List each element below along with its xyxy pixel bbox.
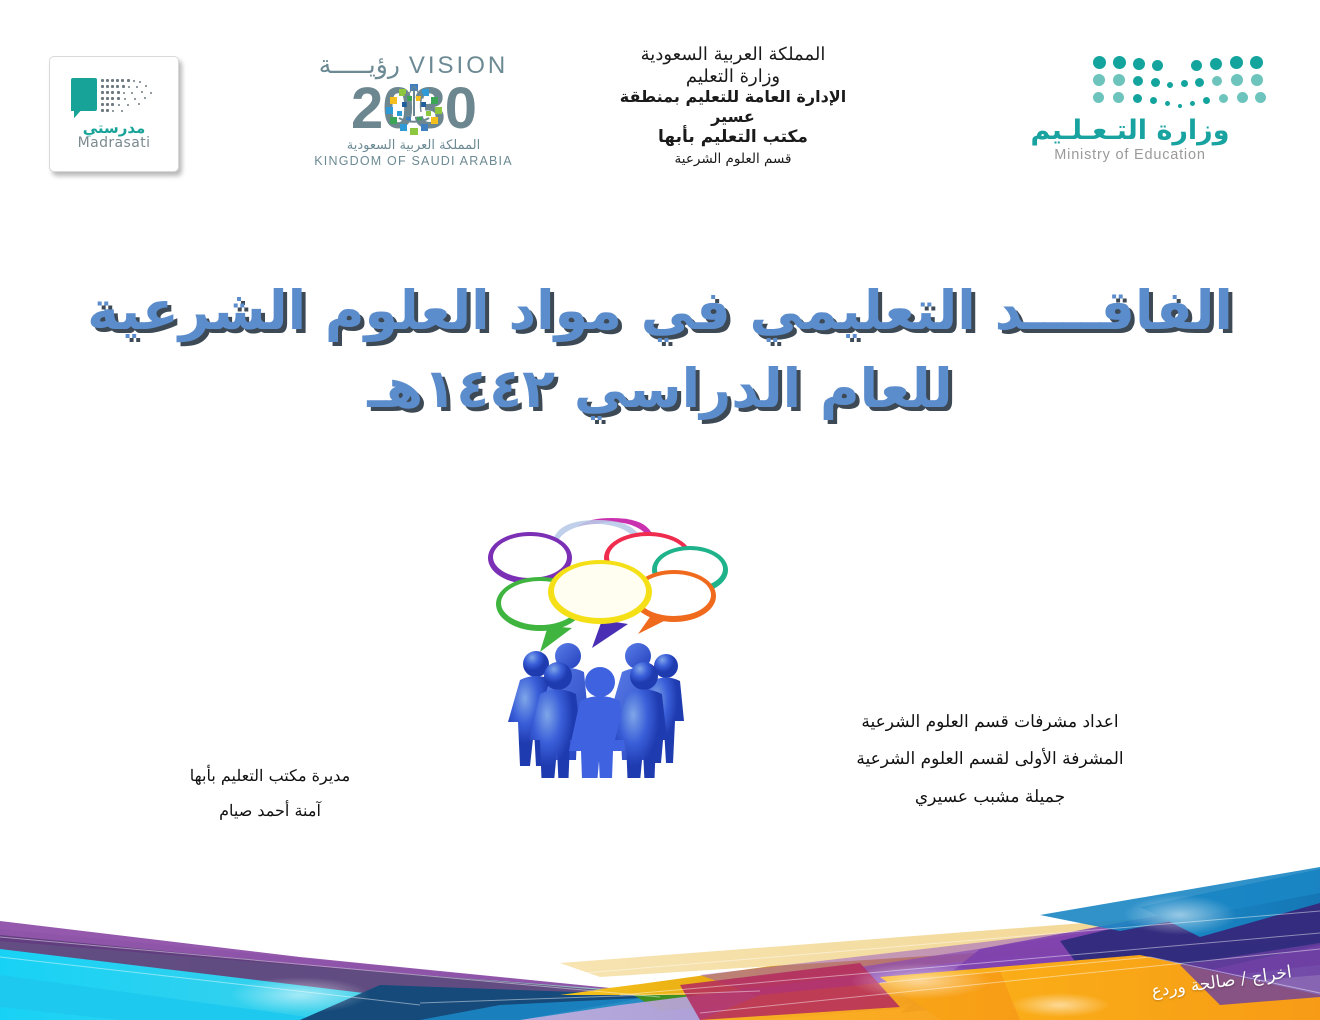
- title-line-2: للعام الدراسي ١٤٤٢هـ: [0, 350, 1320, 428]
- moe-latin-name: Ministry of Education: [985, 147, 1275, 163]
- people-with-speech-bubbles-image: [452, 478, 748, 778]
- ministry-line-office: مكتب التعليم بأبها: [608, 127, 858, 148]
- title-line-1: الفاقــــد التعليمي في مواد العلوم الشرع…: [87, 279, 1233, 342]
- vision-2030-logo-icon: VISION رؤيـــــة 2030: [296, 52, 531, 174]
- credits-left-line-1: مديرة مكتب التعليم بأبها: [160, 758, 380, 793]
- slide-canvas: مدرستي Madrasati VISION رؤيـــــة 2030: [0, 0, 1320, 1020]
- credits-left-line-2: آمنة أحمد صيام: [160, 793, 380, 828]
- speech-bubbles-group: [488, 518, 728, 652]
- credits-right-line-2: المشرفة الأولى لقسم العلوم الشرعية: [840, 741, 1140, 778]
- illustration-svg: [452, 478, 748, 778]
- ministry-line-general-admin: الإدارة العامة للتعليم بمنطقة عسير: [608, 87, 858, 127]
- madrasati-mark-icon: [71, 76, 157, 118]
- page-title: الفاقــــد التعليمي في مواد العلوم الشرع…: [0, 272, 1320, 429]
- madrasati-arabic-name: مدرستي: [83, 121, 146, 136]
- people-group: [508, 643, 684, 778]
- vision-latin-kingdom: KINGDOM OF SAUDI ARABIA: [296, 154, 531, 168]
- decorative-bottom-banner: اخراج / صالحة وردع: [0, 845, 1320, 1020]
- vision-number-row: 2030: [296, 80, 531, 138]
- credits-left-block: مديرة مكتب التعليم بأبها آمنة أحمد صيام: [160, 758, 380, 828]
- madrasati-book-shape: [71, 78, 97, 111]
- madrasati-pixel-dots: [101, 77, 157, 115]
- palm-swords-burst-icon: [377, 72, 451, 146]
- ministry-address-block: المملكة العربية السعودية وزارة التعليم ا…: [608, 45, 858, 169]
- credits-right-line-1: اعداد مشرفات قسم العلوم الشرعية: [840, 704, 1140, 741]
- madrasati-latin-name: Madrasati: [78, 136, 151, 151]
- ministry-line-ministry: وزارة التعليم: [608, 66, 858, 88]
- credits-right-block: اعداد مشرفات قسم العلوم الشرعية المشرفة …: [840, 704, 1140, 816]
- ministry-line-kingdom: المملكة العربية السعودية: [608, 45, 858, 66]
- ministry-of-education-logo-icon: وزارة التـعـلـيم Ministry of Education: [985, 52, 1275, 172]
- header-logo-row: مدرستي Madrasati VISION رؤيـــــة 2030: [0, 0, 1320, 215]
- moe-arabic-name: وزارة التـعـلـيم: [985, 116, 1275, 146]
- ministry-line-department: قسم العلوم الشرعية: [608, 149, 858, 169]
- madrasati-logo-icon: مدرستي Madrasati: [49, 56, 179, 172]
- credits-right-line-3: جميلة مشبب عسيري: [840, 779, 1140, 816]
- moe-dot-matrix: [985, 52, 1275, 112]
